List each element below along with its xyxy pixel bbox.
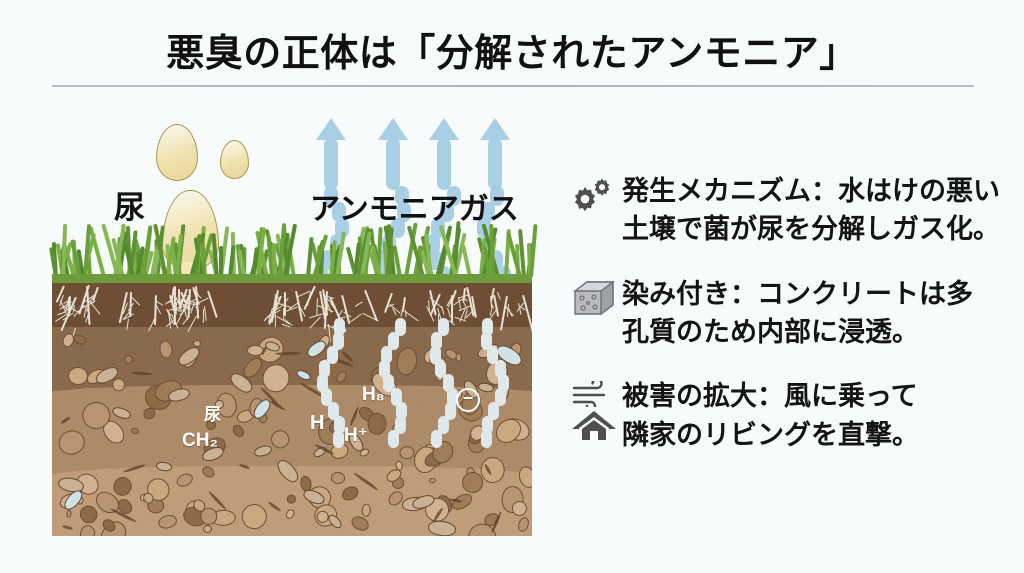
bullet-text-spread: 被害の拡大：風に乗って 隣家のリビングを直撃。 — [622, 377, 919, 454]
root — [451, 295, 453, 323]
gas-arrow-shaft — [437, 138, 451, 190]
infographic-page: 悪臭の正体は「分解されたアンモニア」 尿 — [0, 0, 1024, 573]
bullet-item-spread: 被害の拡大：風に乗って 隣家のリビングを直撃。 — [566, 377, 1006, 454]
gas-arrow-head — [316, 118, 346, 140]
gas-arrow-head — [429, 118, 459, 140]
gas-arrow-head — [378, 118, 408, 140]
soil-pebble — [202, 524, 212, 533]
grass-layer — [52, 221, 532, 283]
grass-blade — [461, 245, 472, 278]
gas-wave-segment — [481, 430, 492, 448]
title-divider — [52, 85, 974, 87]
bullet-line: 被害の拡大：風に乗って — [622, 377, 919, 415]
house-icon — [571, 409, 617, 441]
ammonia-gas-label: アンモニアガス — [310, 184, 519, 228]
bullet-line: 隣家のリビングを直撃。 — [622, 416, 919, 454]
gas-arrow-head — [480, 118, 510, 140]
bullet-text-stain: 染み付き：コンクリートは多 孔質のため内部に浸透。 — [622, 275, 973, 352]
bullet-line: 孔質のため内部に浸透。 — [622, 313, 973, 351]
gas-wave-segment — [431, 430, 442, 448]
gas-wave-segment — [388, 430, 399, 448]
soil-pebble — [455, 353, 462, 362]
soil-pebble — [480, 457, 504, 483]
page-title: 悪臭の正体は「分解されたアンモニア」 — [0, 22, 1024, 77]
h-symbol: H — [310, 412, 324, 435]
grass-base-line — [52, 274, 532, 283]
gas-wave-segment — [333, 430, 344, 448]
bullet-list: 発生メカニズム：水はけの悪い 土壌で菌が尿を分解しガス化。 染み付 — [566, 172, 1006, 480]
gears-icon — [566, 172, 622, 214]
urine-drop-2 — [220, 140, 249, 179]
grass-blade — [219, 246, 223, 277]
gas-arrow-shaft — [386, 138, 400, 190]
bullet-item-stain: 染み付き：コンクリートは多 孔質のため内部に浸透。 — [566, 275, 1006, 352]
soil-cross-section-illustration: 尿 アンモニアガス 尿 CH₂ H H₈ H⁺ − — [52, 112, 532, 536]
wind-and-house-icons — [566, 377, 622, 441]
bullet-line: 染み付き：コンクリートは多 — [622, 275, 973, 313]
gas-arrow-shaft — [488, 138, 502, 190]
h8-symbol: H₈ — [362, 384, 385, 406]
bullet-item-mechanism: 発生メカニズム：水はけの悪い 土壌で菌が尿を分解しガス化。 — [566, 172, 1006, 249]
bullet-line: 土壌で菌が尿を分解しガス化。 — [622, 210, 1000, 248]
urine-label: 尿 — [114, 182, 145, 227]
gas-arrow-shaft — [324, 138, 338, 190]
minus-charge-symbol: − — [456, 388, 480, 412]
concrete-block-icon — [566, 275, 622, 319]
grass-blade — [306, 237, 314, 277]
urine-drop-1 — [156, 124, 198, 181]
bullet-line: 発生メカニズム：水はけの悪い — [622, 172, 1000, 210]
ch2-symbol: CH₂ — [182, 430, 218, 452]
bullet-text-mechanism: 発生メカニズム：水はけの悪い 土壌で菌が尿を分解しガス化。 — [622, 172, 1000, 249]
wind-icon — [571, 381, 617, 407]
h-plus-symbol: H⁺ — [344, 424, 368, 447]
soil-urine-symbol: 尿 — [204, 400, 221, 425]
